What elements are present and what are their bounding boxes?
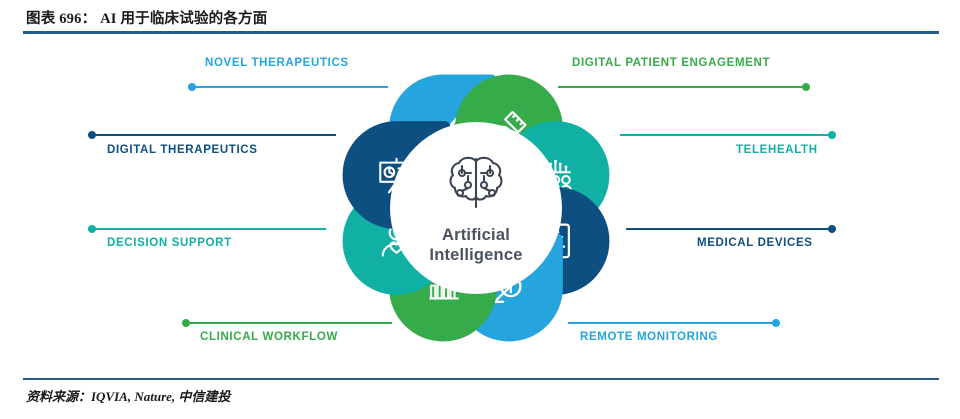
connector-decision-support	[88, 228, 326, 230]
connector-dot	[802, 83, 810, 91]
chart-header: 图表 696： AI 用于临床试验的各方面	[0, 0, 960, 34]
source-note: 资料来源：IQVIA, Nature, 中信建投	[26, 386, 230, 405]
connector-line	[88, 134, 336, 136]
spoke-label-medical-devices: MEDICAL DEVICES	[697, 237, 813, 249]
connector-digital-therapeutics	[88, 134, 336, 136]
spoke-label-clinical-workflow: CLINICAL WORKFLOW	[200, 331, 338, 343]
connector-dot	[772, 319, 780, 327]
connector-line	[88, 228, 326, 230]
connector-dot	[88, 131, 96, 139]
footer-divider	[23, 378, 939, 380]
radial-diagram: NOVEL THERAPEUTICS DIGITAL THERAPEUTICS …	[0, 36, 960, 376]
header-divider	[23, 31, 939, 34]
petal-ring: Artificial Intelligence	[326, 58, 626, 358]
spoke-label-decision-support: DECISION SUPPORT	[107, 237, 232, 249]
connector-line	[626, 228, 836, 230]
connector-dot	[88, 225, 96, 233]
hub-label: Artificial Intelligence	[429, 226, 522, 265]
spoke-label-telehealth: TELEHEALTH	[736, 144, 818, 156]
hub: Artificial Intelligence	[390, 122, 562, 294]
connector-dot	[188, 83, 196, 91]
hub-label-line1: Artificial	[429, 226, 522, 245]
spoke-label-digital-therapeutics: DIGITAL THERAPEUTICS	[107, 144, 258, 156]
connector-medical-devices	[626, 228, 836, 230]
connector-dot	[182, 319, 190, 327]
hub-label-line2: Intelligence	[429, 246, 522, 265]
connector-line	[620, 134, 836, 136]
connector-dot	[828, 131, 836, 139]
brain-circuit-icon	[440, 151, 512, 220]
connector-dot	[828, 225, 836, 233]
connector-telehealth	[620, 134, 836, 136]
page-title: 图表 696： AI 用于临床试验的各方面	[26, 7, 267, 28]
